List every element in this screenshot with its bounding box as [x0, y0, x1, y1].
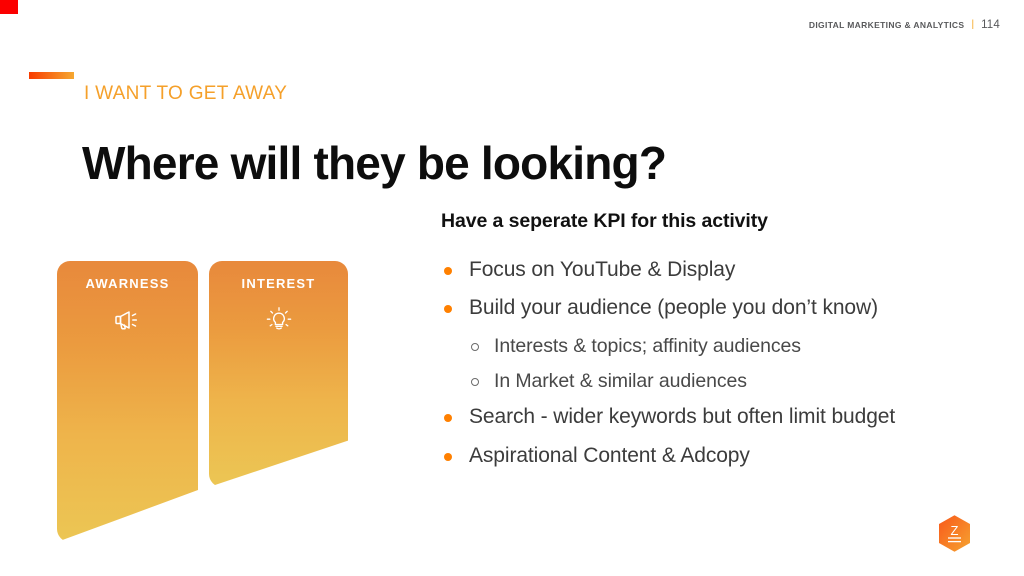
bullet-dot-icon — [444, 305, 452, 313]
red-corner-marker — [0, 0, 18, 14]
content-heading: Have a seperate KPI for this activity — [441, 210, 1001, 233]
list-item-label: Build your audience (people you don’t kn… — [469, 295, 878, 321]
bullet-dot-icon — [444, 267, 452, 275]
funnel-card-awarness: AWARNESS — [57, 261, 198, 542]
funnel-card-interest: INTEREST — [209, 261, 348, 487]
content-panel: Have a seperate KPI for this activity Fo… — [441, 210, 1001, 481]
funnel-graphic: AWARNESS INTEREST — [57, 261, 357, 551]
list-item-label: Interests & topics; affinity audiences — [494, 334, 801, 358]
bullet-dot-icon — [444, 414, 452, 422]
bullet-list: Focus on YouTube & DisplayBuild your aud… — [441, 257, 1001, 469]
slide-header: DIGITAL MARKETING & ANALYTICS | 114 — [809, 19, 1000, 31]
list-item-label: Search - wider keywords but often limit … — [469, 404, 895, 430]
slide-kicker: I WANT TO GET AWAY — [84, 83, 287, 105]
svg-text:Z: Z — [951, 523, 959, 538]
header-deck-title: DIGITAL MARKETING & ANALYTICS — [809, 20, 965, 30]
accent-bar — [29, 72, 74, 79]
page-title: Where will they be looking? — [82, 139, 666, 187]
list-item: In Market & similar audiences — [441, 369, 1001, 393]
list-item-label: In Market & similar audiences — [494, 369, 747, 393]
funnel-card-awarness-label: AWARNESS — [57, 276, 198, 291]
list-item-label: Focus on YouTube & Display — [469, 257, 735, 283]
hexagon-z-logo: Z — [936, 514, 973, 554]
megaphone-icon — [57, 303, 198, 337]
lightbulb-icon — [209, 303, 348, 337]
page-number: 114 — [981, 19, 1000, 31]
list-item: Interests & topics; affinity audiences — [441, 334, 1001, 358]
funnel-card-interest-fill — [209, 261, 348, 487]
list-item: Search - wider keywords but often limit … — [441, 404, 1001, 430]
list-item-label: Aspirational Content & Adcopy — [469, 443, 750, 469]
slide-canvas: DIGITAL MARKETING & ANALYTICS | 114 I WA… — [0, 0, 1024, 576]
list-item: Aspirational Content & Adcopy — [441, 443, 1001, 469]
bullet-dot-icon — [444, 453, 452, 461]
header-separator: | — [971, 20, 974, 30]
sub-bullet-circle-icon — [471, 378, 479, 386]
sub-bullet-circle-icon — [471, 343, 479, 351]
list-item: Build your audience (people you don’t kn… — [441, 295, 1001, 321]
funnel-card-interest-label: INTEREST — [209, 276, 348, 291]
list-item: Focus on YouTube & Display — [441, 257, 1001, 283]
